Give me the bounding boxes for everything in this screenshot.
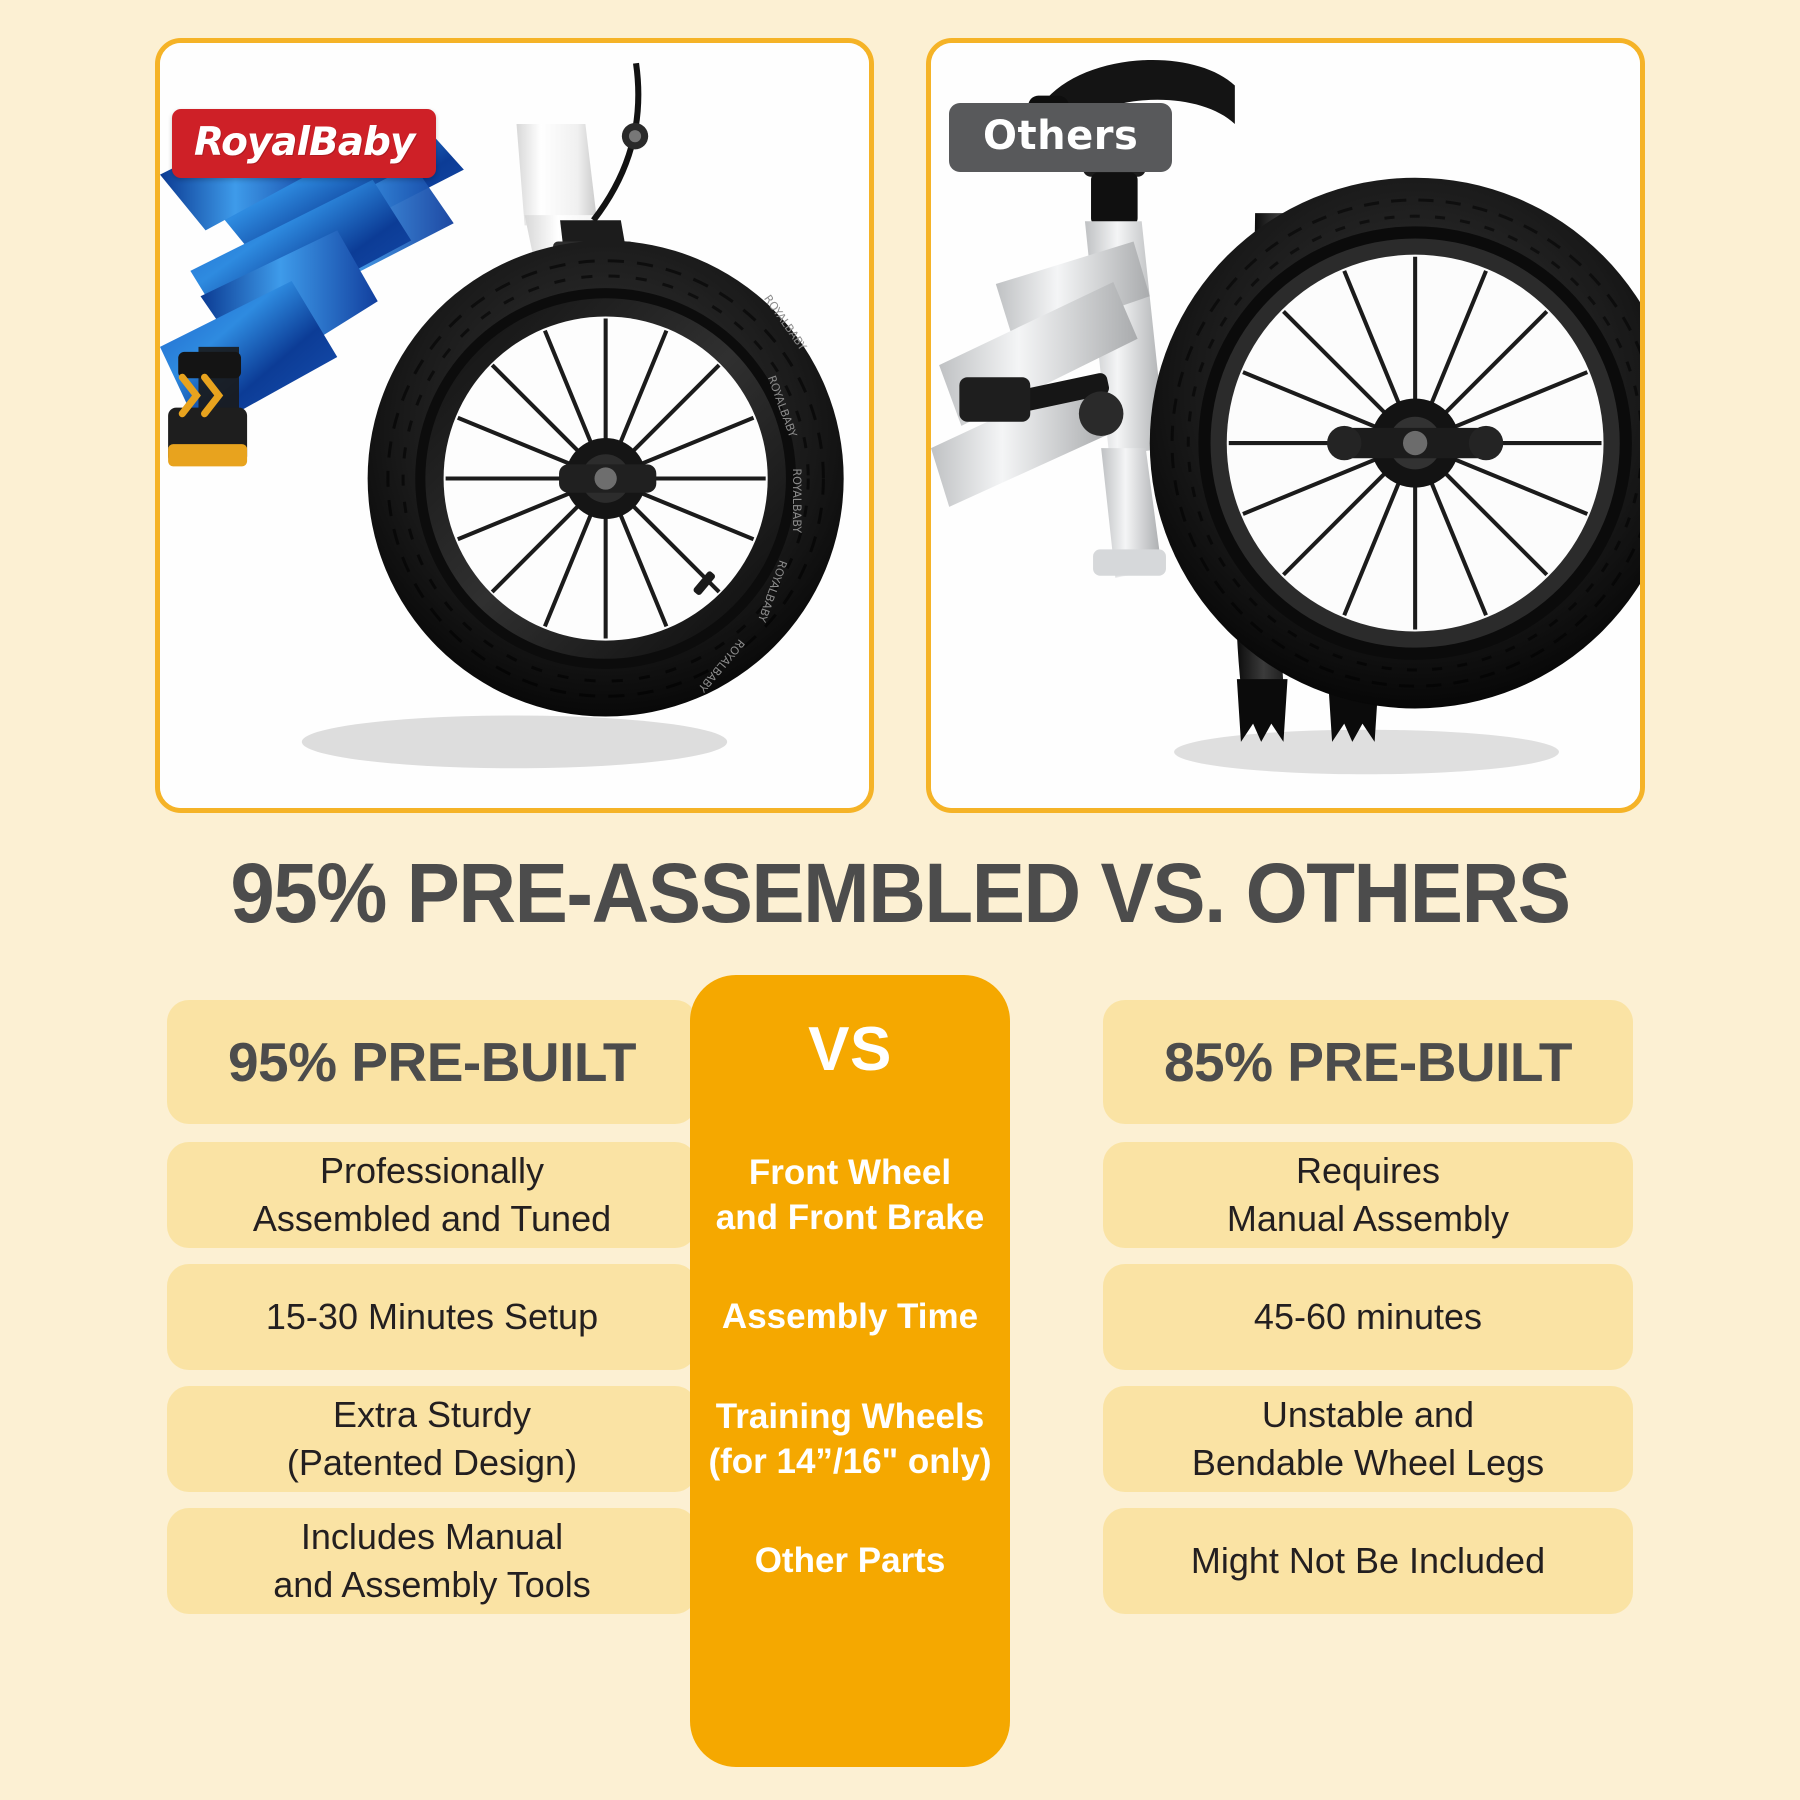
cell-text-line2: Bendable Wheel Legs (1192, 1439, 1544, 1487)
cell-text-line1: Professionally (253, 1147, 611, 1195)
comparison-table: 95% PRE-BUILT Professionally Assembled a… (0, 1000, 1800, 1790)
vs-header: VS (808, 975, 892, 1124)
feature-label: Front Wheel and Front Brake (690, 1142, 1010, 1248)
table-row: Unstable and Bendable Wheel Legs (1103, 1386, 1633, 1492)
feature-text-line1: Other Parts (755, 1538, 946, 1584)
cell-text-line1: Might Not Be Included (1191, 1537, 1545, 1585)
table-row: Includes Manual and Assembly Tools (167, 1508, 697, 1614)
cell-text-line1: Extra Sturdy (287, 1391, 577, 1439)
feature-text-line1: Training Wheels (708, 1394, 991, 1440)
page-title: 95% PRE-ASSEMBLED VS. OTHERS (45, 845, 1755, 942)
cell-text-line1: Unstable and (1192, 1391, 1544, 1439)
table-row: Might Not Be Included (1103, 1508, 1633, 1614)
cell-text-line2: Manual Assembly (1227, 1195, 1509, 1243)
table-row: 15-30 Minutes Setup (167, 1264, 697, 1370)
feature-label: Assembly Time (690, 1264, 1010, 1370)
table-row: 45-60 minutes (1103, 1264, 1633, 1370)
feature-label: Other Parts (690, 1508, 1010, 1614)
column-royalbaby: 95% PRE-BUILT Professionally Assembled a… (167, 1000, 697, 1614)
royalbaby-logo-text: RoyalBaby (194, 120, 414, 165)
feature-text-line1: Assembly Time (722, 1294, 978, 1340)
infographic-page: ROYALBABY ROYALBABY ROYALBABY ROYALBABY … (0, 0, 1800, 1800)
photo-panel-royalbaby: ROYALBABY ROYALBABY ROYALBABY ROYALBABY … (155, 38, 874, 813)
column-feature-vs: VS Front Wheel and Front Brake Assembly … (690, 975, 1010, 1767)
feature-text-line2: and Front Brake (716, 1195, 984, 1241)
cell-text-line2: Assembled and Tuned (253, 1195, 611, 1243)
others-badge: Others (949, 103, 1172, 172)
right-column-header: 85% PRE-BUILT (1103, 1000, 1633, 1124)
svg-text:ROYALBABY: ROYALBABY (790, 468, 803, 533)
product-photo-row: ROYALBABY ROYALBABY ROYALBABY ROYALBABY … (155, 38, 1645, 813)
feature-text-line2: (for 14”/16" only) (708, 1439, 991, 1485)
others-badge-text: Others (983, 113, 1138, 159)
feature-label: Training Wheels (for 14”/16" only) (690, 1386, 1010, 1492)
cell-text-line1: 15-30 Minutes Setup (266, 1293, 598, 1341)
royalbaby-logo-badge: RoyalBaby (172, 109, 436, 178)
cell-text-line1: 45-60 minutes (1254, 1293, 1482, 1341)
table-row: Professionally Assembled and Tuned (167, 1142, 697, 1248)
photo-panel-others: Others (926, 38, 1645, 813)
cell-text-line2: and Assembly Tools (273, 1561, 591, 1609)
column-others: 85% PRE-BUILT Requires Manual Assembly 4… (1103, 1000, 1633, 1614)
feature-text-line1: Front Wheel (716, 1150, 984, 1196)
cell-text-line1: Requires (1227, 1147, 1509, 1195)
cell-text-line1: Includes Manual (273, 1513, 591, 1561)
table-row: Extra Sturdy (Patented Design) (167, 1386, 697, 1492)
table-row: Requires Manual Assembly (1103, 1142, 1633, 1248)
left-column-header: 95% PRE-BUILT (167, 1000, 697, 1124)
cell-text-line2: (Patented Design) (287, 1439, 577, 1487)
